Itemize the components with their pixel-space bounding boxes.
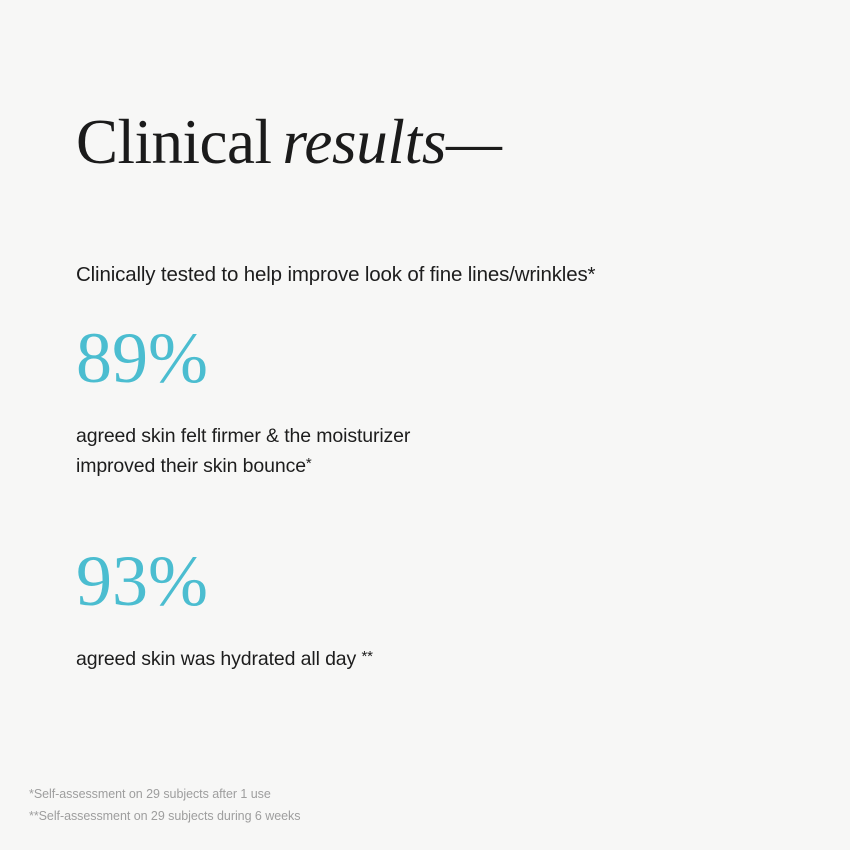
- footnote-double-asterisk: **Self-assessment on 29 subjects during …: [29, 806, 300, 828]
- clinical-results-card: Clinicalresults— Clinically tested to he…: [0, 0, 850, 850]
- stat-value-93: 93%: [76, 545, 373, 617]
- stat-caption-firmness-text: agreed skin felt firmer & the moisturize…: [76, 425, 410, 477]
- stat-caption-firmness: agreed skin felt firmer & the moisturize…: [76, 422, 410, 481]
- footnote-marker-double: **: [361, 648, 372, 665]
- footnotes: *Self-assessment on 29 subjects after 1 …: [29, 784, 300, 827]
- stat-block-hydration: 93% agreed skin was hydrated all day **: [76, 545, 373, 694]
- subtitle-claim: Clinically tested to help improve look o…: [76, 261, 595, 289]
- stat-caption-hydration-text: agreed skin was hydrated all day: [76, 648, 361, 670]
- page-title-italic: results—: [282, 107, 501, 177]
- stat-value-89: 89%: [76, 322, 410, 394]
- page-title: Clinicalresults—: [76, 108, 502, 176]
- footnote-single-asterisk: *Self-assessment on 29 subjects after 1 …: [29, 784, 300, 806]
- footnote-marker-single: *: [306, 455, 312, 472]
- stat-block-firmness: 89% agreed skin felt firmer & the moistu…: [76, 322, 410, 501]
- stat-caption-hydration: agreed skin was hydrated all day **: [76, 645, 373, 675]
- page-title-roman: Clinical: [76, 107, 271, 177]
